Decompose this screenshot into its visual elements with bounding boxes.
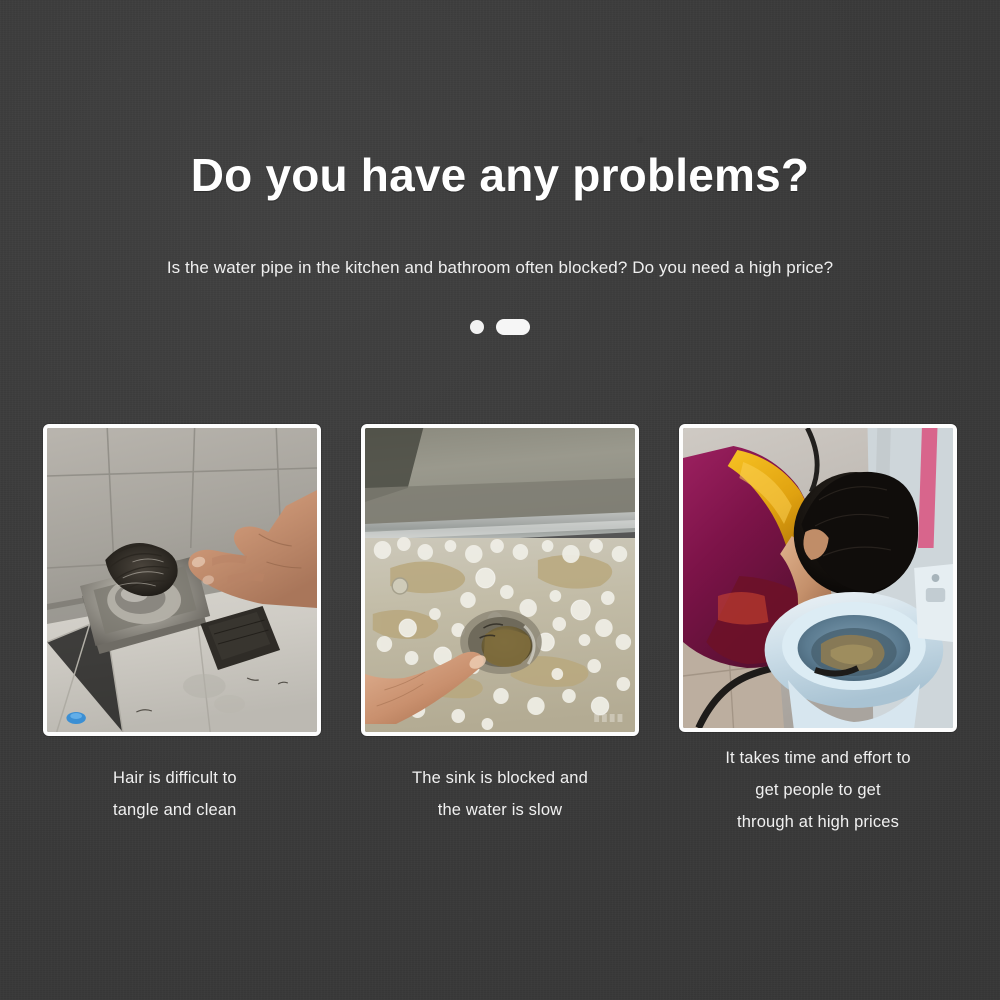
page-title: Do you have any problems?: [0, 148, 1000, 202]
problem-card-list: Hair is difficult to tangle and clean: [0, 424, 1000, 839]
pagination-dot-2-active[interactable]: [496, 319, 530, 335]
card-caption-1-line-1: Hair is difficult to: [113, 762, 321, 794]
card-caption-3-line-1: It takes time and effort to: [679, 742, 957, 774]
problem-card-3[interactable]: It takes time and effort to get people t…: [679, 424, 957, 839]
card-caption-3: It takes time and effort to get people t…: [679, 742, 957, 839]
image-frame-3: [679, 424, 957, 732]
card-caption-3-line-3: through at high prices: [679, 806, 957, 838]
image-frame-2: [361, 424, 639, 736]
floor-drain-hair-clog-photo: [47, 428, 317, 732]
promotional-banner-page: Do you have any problems? Is the water p…: [0, 0, 1000, 1000]
problem-card-2[interactable]: The sink is blocked and the water is slo…: [361, 424, 639, 826]
image-frame-1: [43, 424, 321, 736]
card-caption-2-line-2: the water is slow: [361, 794, 639, 826]
card-caption-2-line-1: The sink is blocked and: [361, 762, 639, 794]
blocked-sink-foam-photo: [365, 428, 635, 732]
plumber-toilet-unclog-photo: [683, 428, 953, 728]
page-subtitle: Is the water pipe in the kitchen and bat…: [0, 258, 1000, 278]
card-caption-3-line-2: get people to get: [679, 774, 957, 806]
card-caption-1-line-2: tangle and clean: [113, 794, 321, 826]
carousel-pagination[interactable]: [0, 319, 1000, 335]
card-caption-2: The sink is blocked and the water is slo…: [361, 762, 639, 826]
card-caption-1: Hair is difficult to tangle and clean: [43, 762, 321, 826]
problem-card-1[interactable]: Hair is difficult to tangle and clean: [43, 424, 321, 826]
pagination-dot-1[interactable]: [470, 320, 484, 334]
